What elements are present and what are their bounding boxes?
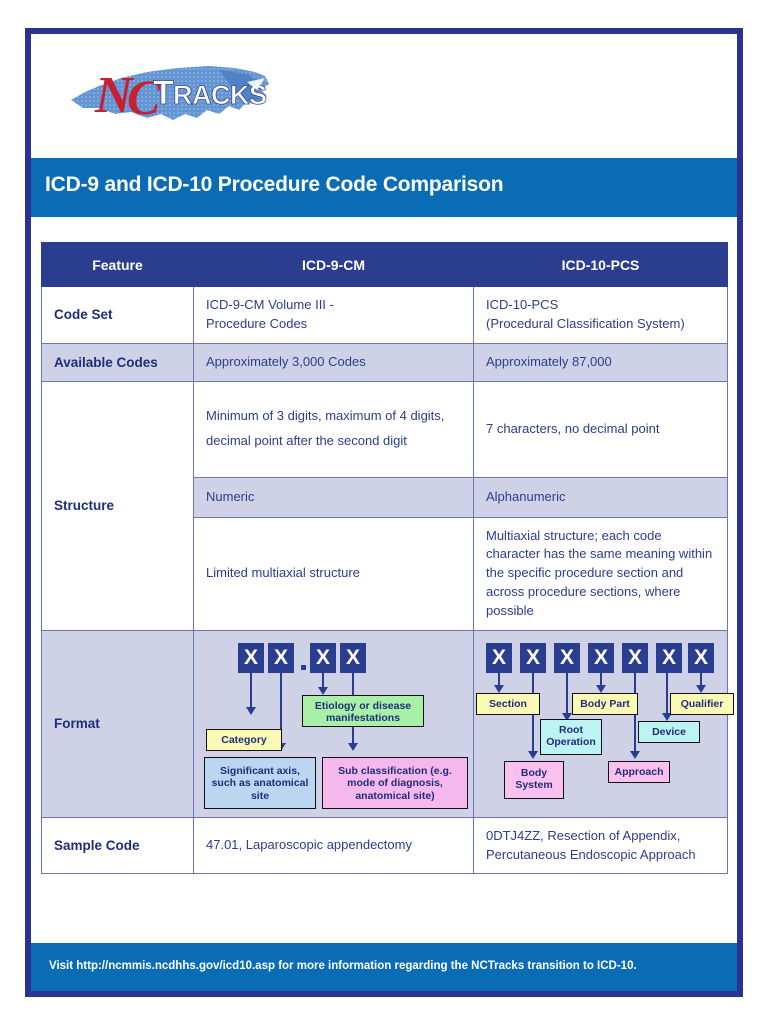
icd10-arrow-7-line [700, 673, 702, 685]
cell-structure-3-icd9: Limited multiaxial structure [194, 517, 474, 630]
icd9-char-3: X [310, 643, 336, 673]
icd9-decimal-point [301, 665, 306, 670]
icd10-label-root-operation: Root Operation [540, 719, 602, 755]
cell-code-set-icd10: ICD-10-PCS (Procedural Classification Sy… [474, 287, 728, 344]
icd9-char-1: X [238, 643, 264, 673]
col-header-icd10: ICD-10-PCS [474, 243, 728, 287]
icd10-arrow-7-head [696, 685, 706, 693]
row-label-format: Format [42, 630, 194, 817]
icd9-char-4: X [340, 643, 366, 673]
icd9-format-diagram: X X X X [194, 631, 473, 817]
icd10-char-2: X [520, 643, 546, 673]
icd9-arrow-4-head [348, 743, 358, 751]
cell-structure-1-icd9: Minimum of 3 digits, maximum of 4 digits… [194, 381, 474, 477]
icd10-arrow-4-head [596, 685, 606, 693]
icd10-arrow-2-head [528, 751, 538, 759]
table-row: Sample Code 47.01, Laparoscopic appendec… [42, 817, 728, 874]
icd10-label-qualifier: Qualifier [670, 693, 734, 715]
icd10-char-5: X [622, 643, 648, 673]
cell-available-codes-icd10: Approximately 87,000 [474, 343, 728, 381]
cell-sample-code-icd10: 0DTJ4ZZ, Resection of Appendix, Percutan… [474, 817, 728, 874]
title-bar: ICD-9 and ICD-10 Procedure Code Comparis… [31, 158, 737, 217]
icd10-label-body-system: Body System [504, 761, 564, 799]
icd9-char-2: X [268, 643, 294, 673]
row-label-structure: Structure [42, 381, 194, 630]
document-page: N C T RACKS ICD-9 and ICD-10 Procedure C… [25, 28, 743, 997]
icd10-format-diagram: X X X X X X X [474, 631, 727, 817]
col-header-icd9: ICD-9-CM [194, 243, 474, 287]
table-row: Structure Minimum of 3 digits, maximum o… [42, 381, 728, 477]
icd10-char-4: X [588, 643, 614, 673]
icd10-char-1: X [486, 643, 512, 673]
cell-structure-2-icd10: Alphanumeric [474, 477, 728, 517]
icd9-label-sub-classification: Sub classification (e.g. mode of diagnos… [322, 757, 468, 809]
icd10-arrow-1-head [494, 685, 504, 693]
table-row: Format X X X X [42, 630, 728, 817]
cell-format-icd10: X X X X X X X [474, 630, 728, 817]
icd10-char-7: X [688, 643, 714, 673]
icd9-label-category: Category [206, 729, 282, 751]
footer-text: Visit http://ncmmis.ncdhhs.gov/icd10.asp… [49, 960, 637, 972]
nctracks-logo-svg: N C T RACKS [69, 56, 279, 138]
icd10-char-6: X [656, 643, 682, 673]
icd10-arrow-5-head [630, 751, 640, 759]
icd10-char-3: X [554, 643, 580, 673]
cell-sample-code-icd9: 47.01, Laparoscopic appendectomy [194, 817, 474, 874]
icd10-label-body-part: Body Part [572, 693, 638, 715]
cell-format-icd9: X X X X [194, 630, 474, 817]
icd10-label-device: Device [638, 721, 700, 743]
icd9-arrow-3-head [318, 687, 328, 695]
col-header-feature: Feature [42, 243, 194, 287]
row-label-sample-code: Sample Code [42, 817, 194, 874]
icd10-arrow-6-line [666, 673, 668, 713]
icd10-label-approach: Approach [608, 761, 670, 783]
nctracks-logo: N C T RACKS [69, 56, 279, 138]
logo-band: N C T RACKS [31, 34, 737, 158]
comparison-table: Feature ICD-9-CM ICD-10-PCS Code Set ICD… [41, 242, 728, 874]
row-label-code-set: Code Set [42, 287, 194, 344]
icd10-arrow-1-line [498, 673, 500, 685]
cell-structure-1-icd10: 7 characters, no decimal point [474, 381, 728, 477]
cell-structure-2-icd9: Numeric [194, 477, 474, 517]
svg-text:T: T [153, 74, 174, 112]
table-header-row: Feature ICD-9-CM ICD-10-PCS [42, 243, 728, 287]
row-label-available-codes: Available Codes [42, 343, 194, 381]
icd9-arrow-3-line [322, 673, 324, 687]
icd10-arrow-3-line [566, 673, 568, 713]
table-row: Available Codes Approximately 3,000 Code… [42, 343, 728, 381]
table-row: Code Set ICD-9-CM Volume III - Procedure… [42, 287, 728, 344]
footer-bar: Visit http://ncmmis.ncdhhs.gov/icd10.asp… [31, 943, 737, 991]
icd10-label-section: Section [476, 693, 540, 715]
cell-code-set-icd9: ICD-9-CM Volume III - Procedure Codes [194, 287, 474, 344]
icd9-label-significant-axis: Significant axis, such as anatomical sit… [204, 757, 316, 809]
icd9-arrow-1-line [250, 673, 252, 707]
icd9-arrow-1-head [246, 707, 256, 715]
icd9-label-etiology: Etiology or disease manifestations [302, 695, 424, 727]
icd10-arrow-4-line [600, 673, 602, 685]
cell-structure-3-icd10: Multiaxial structure; each code characte… [474, 517, 728, 630]
cell-available-codes-icd9: Approximately 3,000 Codes [194, 343, 474, 381]
page-title: ICD-9 and ICD-10 Procedure Code Comparis… [45, 173, 503, 197]
